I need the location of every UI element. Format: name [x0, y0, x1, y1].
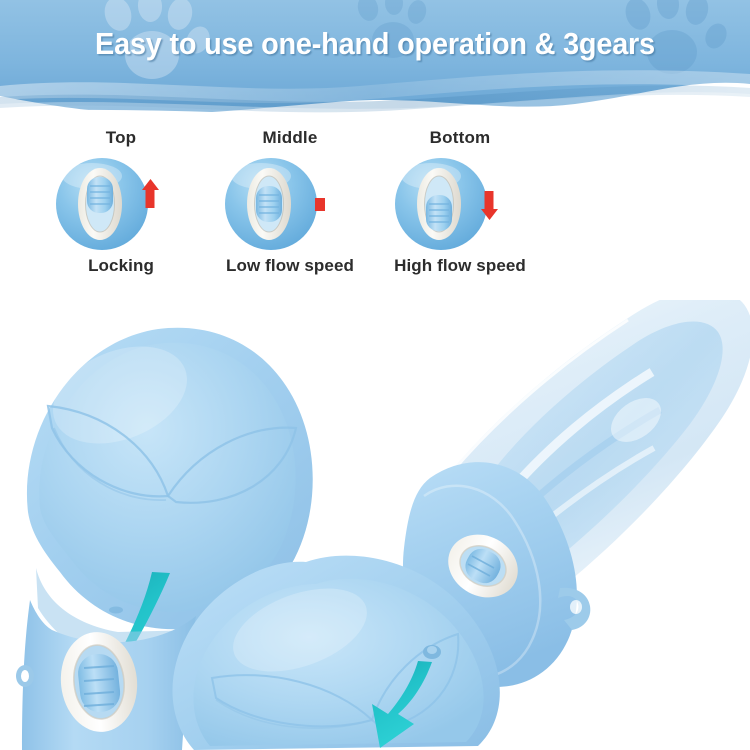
slider-knob: [426, 195, 452, 231]
gear-function-label: High flow speed: [375, 256, 545, 276]
page-title: Easy to use one-hand operation & 3gears: [26, 26, 724, 62]
gear-item-middle: Middle: [205, 128, 375, 276]
gear-function-label: Low flow speed: [205, 256, 375, 276]
gear-illustration-bottom: [375, 152, 545, 256]
gear-position-label: Bottom: [375, 128, 545, 148]
gear-item-bottom: Bottom: [375, 128, 545, 276]
gear-illustration-top: [36, 152, 206, 256]
gear-item-top: Top: [36, 128, 206, 276]
product-photo-area: [0, 300, 750, 750]
slider-knob: [87, 177, 113, 213]
hanging-hook: [16, 665, 34, 687]
gear-diagram-row: Top: [0, 128, 750, 293]
header-banner: Easy to use one-hand operation & 3gears: [0, 0, 750, 120]
gear-illustration-middle: [205, 152, 375, 256]
slider-knob: [256, 186, 282, 222]
square-marker-icon: [315, 198, 325, 211]
gear-function-label: Locking: [36, 256, 206, 276]
gear-position-label: Top: [36, 128, 206, 148]
gear-position-label: Middle: [205, 128, 375, 148]
infographic-canvas: Easy to use one-hand operation & 3gears …: [0, 0, 750, 750]
